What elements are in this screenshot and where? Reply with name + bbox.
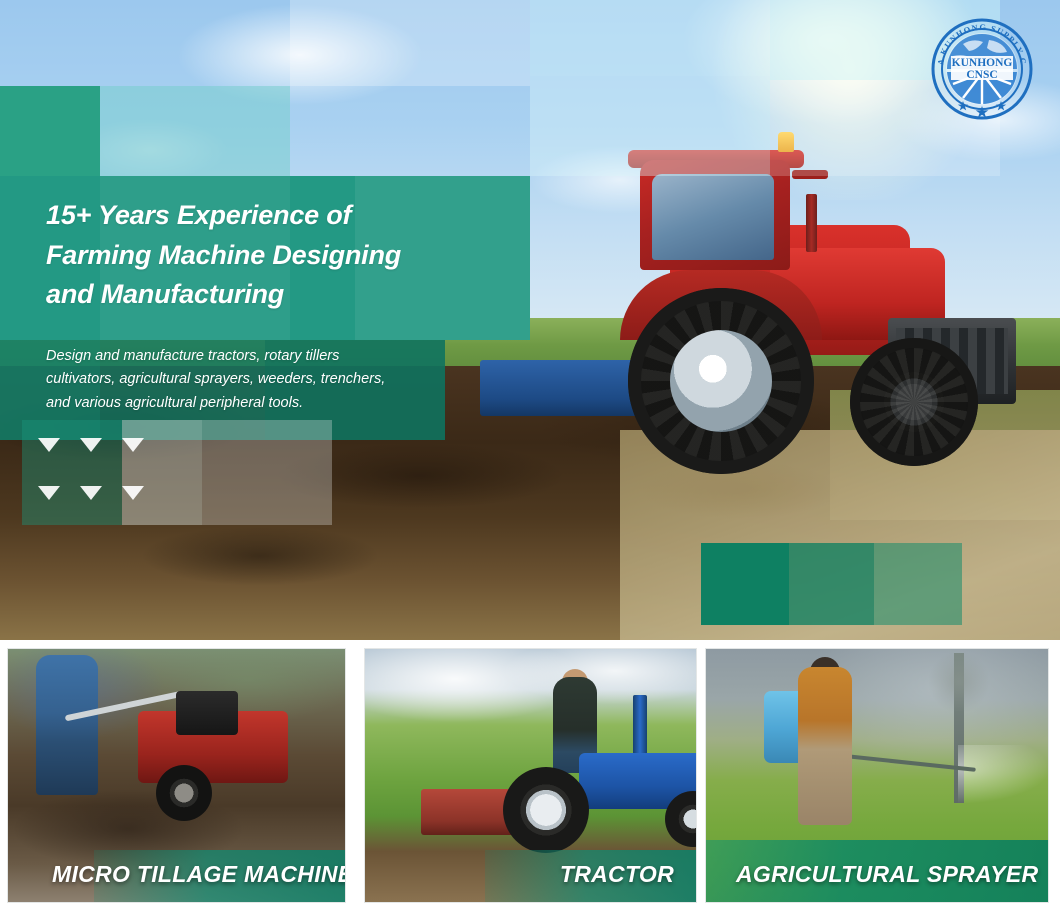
hero-headline: 15+ Years Experience of Farming Machine … [46,196,516,315]
decor-square-b [530,0,770,76]
tractor-exhaust-pipe [806,194,817,252]
logo-center-line-2: CNSC [966,69,997,81]
hero-subtitle-line-1: Design and manufacture tractors, rotary … [46,345,466,368]
decor-square-teal-translucent [100,86,290,176]
farmer-figure [36,655,98,795]
logo-center-line-1: KUNHONG [952,57,1013,69]
triangle-down-icon [38,438,60,452]
hero-subtitle: Design and manufacture tractors, rotary … [46,345,466,415]
arrow-block-panel-3 [202,420,332,525]
decor-square-d [530,76,770,176]
decor-green-block-2 [789,543,874,625]
spray-mist [958,745,1048,803]
triangle-down-icon [80,438,102,452]
arrow-grid [38,438,164,534]
card-label-tractor: TRACTOR [560,861,674,888]
card-label-agricultural-sprayer: AGRICULTURAL SPRAYER [736,861,1038,888]
tiller-wheel [156,765,212,821]
arrow-decoration-block [22,420,332,525]
hero-subtitle-line-2: cultivators, agricultural sprayers, weed… [46,368,466,391]
tractor-windshield [652,174,774,260]
hero-headline-line-3: and Manufacturing [46,275,516,315]
decor-square-a [290,0,530,86]
product-card-micro-tillage-machine[interactable]: MICRO TILLAGE MACHINE [7,648,346,903]
triangle-down-icon [80,486,102,500]
blue-tractor-exhaust [633,695,647,759]
hero-section: 15+ Years Experience of Farming Machine … [0,0,1060,640]
tractor-rear-wheel-hub [670,330,772,432]
product-card-row: MICRO TILLAGE MACHINE TRACTOR [0,648,1060,903]
sprayer-operator-figure [798,667,852,825]
triangle-down-icon [122,438,144,452]
decor-square-green-solid [0,86,100,176]
hero-headline-line-1: 15+ Years Experience of [46,196,516,236]
company-logo: KUNHONG CNSC CHINA KUNHONG SUPPLY CHAIN [923,10,1041,128]
circular-seal-logo: KUNHONG CNSC CHINA KUNHONG SUPPLY CHAIN [923,10,1041,128]
decor-green-block-3 [874,543,962,625]
tiller-engine [176,691,238,735]
red-tractor-illustration [520,130,1050,510]
product-card-agricultural-sprayer[interactable]: AGRICULTURAL SPRAYER [705,648,1049,903]
hero-headline-line-2: Farming Machine Designing [46,236,516,276]
promo-banner: 15+ Years Experience of Farming Machine … [0,0,1060,903]
hero-text-block: 15+ Years Experience of Farming Machine … [46,196,516,315]
triangle-down-icon [122,486,144,500]
tractor-front-wheel [850,338,978,466]
triangle-down-icon [38,486,60,500]
decor-green-block-1 [701,543,789,625]
hero-subtitle-line-3: and various agricultural peripheral tool… [46,392,466,415]
card-label-micro-tillage-machine: MICRO TILLAGE MACHINE [52,861,346,888]
product-card-tractor[interactable]: TRACTOR [364,648,697,903]
blue-tractor-rear-wheel [503,767,589,853]
